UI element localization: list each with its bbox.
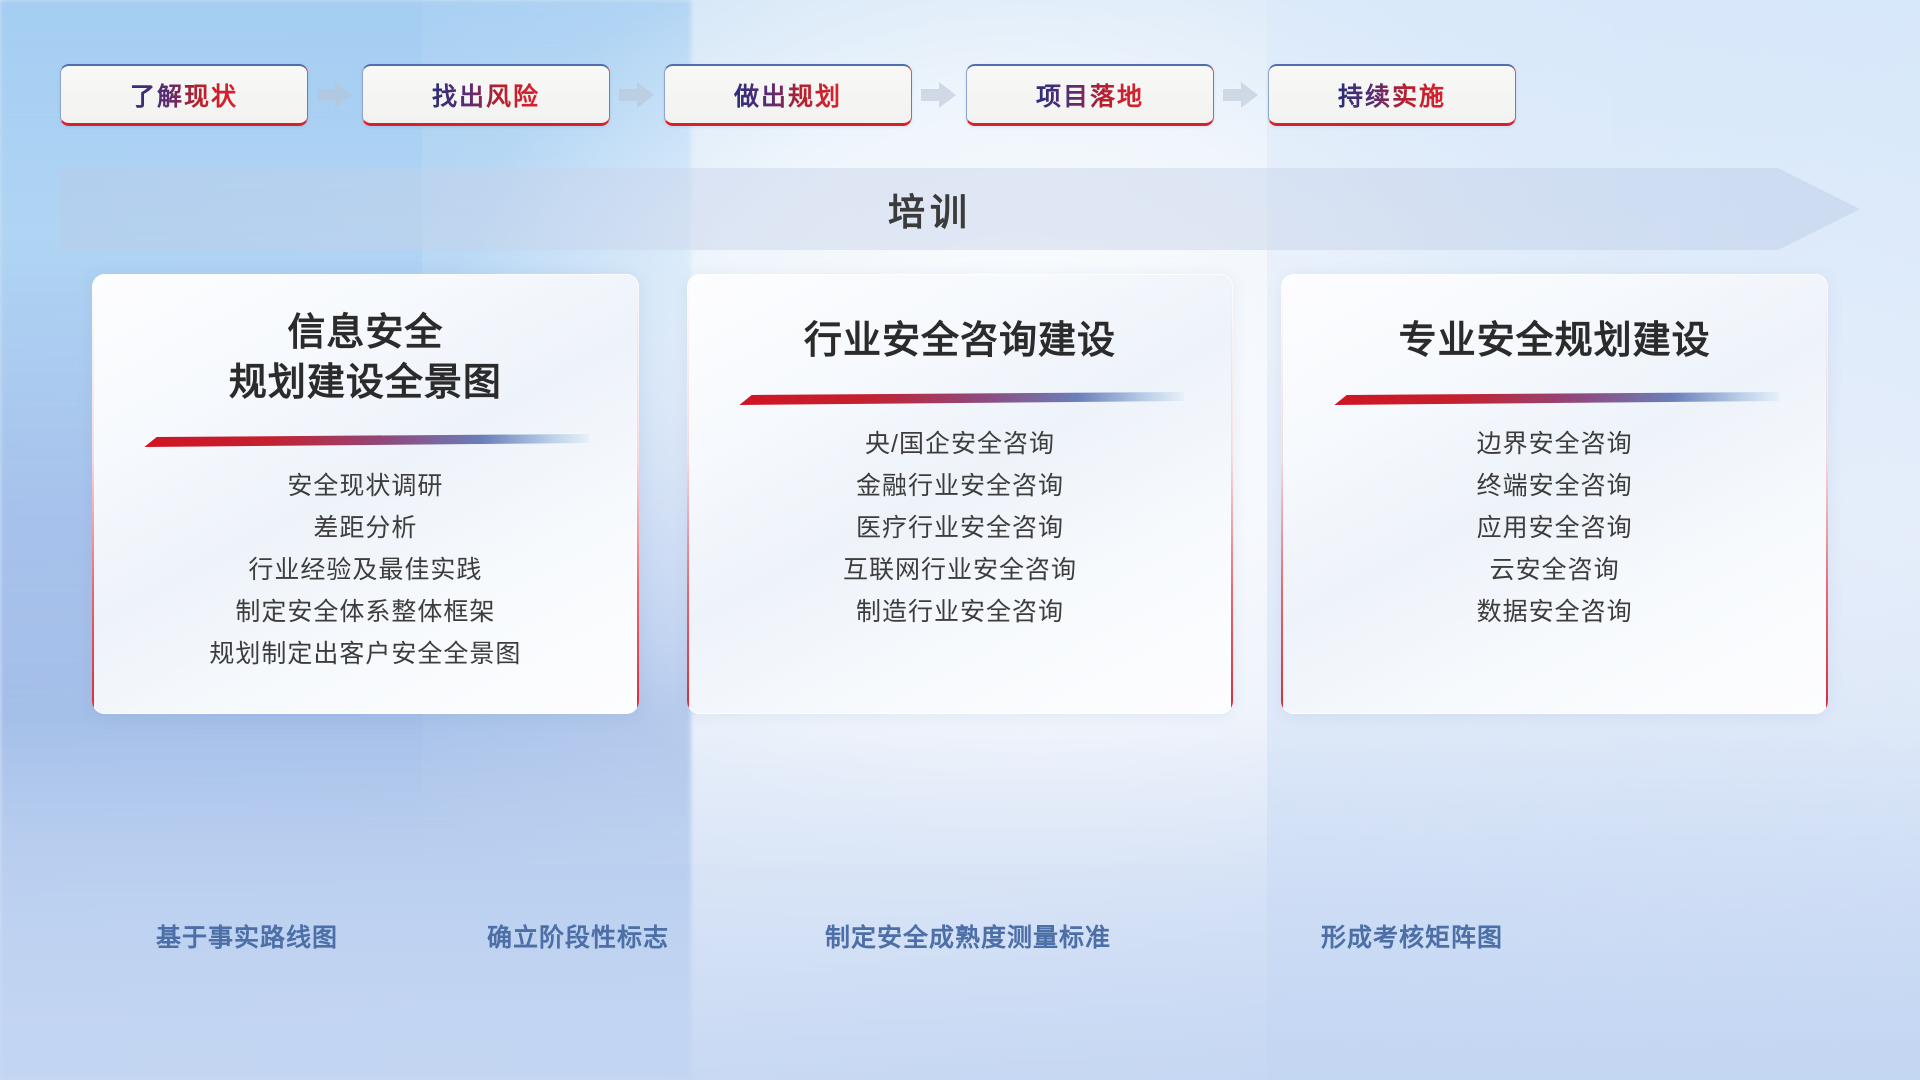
background-bottom-wash [0, 713, 1920, 1080]
process-step-row: 了解现状找出风险做出规划项目落地持续实施 [60, 64, 1860, 126]
process-step-label: 做出规划 [734, 77, 842, 113]
bottom-caption-4: 形成考核矩阵图 [1321, 918, 1503, 954]
card-list-item[interactable]: 数据安全咨询 [1477, 600, 1633, 625]
chevron-right-arrow-icon [921, 81, 957, 109]
card-divider-bar [1331, 392, 1779, 406]
card-title: 专业安全规划建设 [1399, 316, 1711, 366]
process-arrow-4 [1214, 64, 1268, 126]
process-arrow-2 [610, 64, 664, 126]
consulting-card-3[interactable]: 专业安全规划建设边界安全咨询终端安全咨询应用安全咨询云安全咨询数据安全咨询 [1281, 274, 1828, 714]
process-step-3[interactable]: 做出规划 [664, 64, 912, 126]
divider-shape [736, 392, 1184, 406]
card-title: 行业安全咨询建设 [804, 316, 1116, 366]
divider-shape [1331, 392, 1779, 406]
card-list-item[interactable]: 差距分析 [209, 516, 521, 541]
chevron-right-arrow-icon [619, 81, 655, 109]
training-band-label: 培训 [60, 168, 1860, 250]
process-step-label: 找出风险 [432, 77, 540, 113]
training-arrow-band: 培训 [60, 168, 1860, 250]
process-step-label: 了解现状 [130, 77, 238, 113]
process-step-label: 持续实施 [1338, 77, 1446, 113]
bottom-caption-3: 制定安全成熟度测量标准 [825, 918, 1111, 954]
chevron-right-arrow-icon [1223, 81, 1259, 109]
divider-shape [141, 434, 589, 448]
process-step-4[interactable]: 项目落地 [966, 64, 1214, 126]
card-list-item[interactable]: 金融行业安全咨询 [843, 474, 1077, 499]
consulting-card-2[interactable]: 行业安全咨询建设央/国企安全咨询金融行业安全咨询医疗行业安全咨询互联网行业安全咨… [687, 274, 1234, 714]
card-item-list: 安全现状调研差距分析行业经验及最佳实践制定安全体系整体框架规划制定出客户安全全景… [209, 474, 521, 667]
card-list-item[interactable]: 规划制定出客户安全全景图 [209, 642, 521, 667]
card-list-item[interactable]: 医疗行业安全咨询 [843, 516, 1077, 541]
card-item-list: 央/国企安全咨询金融行业安全咨询医疗行业安全咨询互联网行业安全咨询制造行业安全咨… [843, 432, 1077, 625]
card-item-list: 边界安全咨询终端安全咨询应用安全咨询云安全咨询数据安全咨询 [1477, 432, 1633, 625]
bottom-caption-row: 基于事实路线图确立阶段性标志制定安全成熟度测量标准形成考核矩阵图 [0, 918, 1920, 962]
bottom-caption-1: 基于事实路线图 [156, 918, 338, 954]
card-list-item[interactable]: 云安全咨询 [1477, 558, 1633, 583]
process-arrow-1 [308, 64, 362, 126]
card-title-line: 规划建设全景图 [229, 358, 502, 408]
process-step-2[interactable]: 找出风险 [362, 64, 610, 126]
card-title-line: 信息安全 [229, 308, 502, 358]
chevron-right-arrow-icon [317, 81, 353, 109]
process-arrow-3 [912, 64, 966, 126]
card-divider-bar [736, 392, 1184, 406]
process-step-label: 项目落地 [1036, 77, 1144, 113]
card-list-item[interactable]: 应用安全咨询 [1477, 516, 1633, 541]
card-list-item[interactable]: 制造行业安全咨询 [843, 600, 1077, 625]
card-title-line: 专业安全规划建设 [1399, 316, 1711, 366]
process-step-1[interactable]: 了解现状 [60, 64, 308, 126]
process-step-5[interactable]: 持续实施 [1268, 64, 1516, 126]
card-list-item[interactable]: 央/国企安全咨询 [843, 432, 1077, 457]
card-title: 信息安全规划建设全景图 [229, 308, 502, 408]
consulting-cards-container: 信息安全规划建设全景图安全现状调研差距分析行业经验及最佳实践制定安全体系整体框架… [92, 274, 1828, 714]
consulting-card-1[interactable]: 信息安全规划建设全景图安全现状调研差距分析行业经验及最佳实践制定安全体系整体框架… [92, 274, 639, 714]
card-list-item[interactable]: 终端安全咨询 [1477, 474, 1633, 499]
card-list-item[interactable]: 边界安全咨询 [1477, 432, 1633, 457]
card-divider-bar [141, 434, 589, 448]
card-list-item[interactable]: 互联网行业安全咨询 [843, 558, 1077, 583]
card-title-line: 行业安全咨询建设 [804, 316, 1116, 366]
bottom-caption-2: 确立阶段性标志 [487, 918, 669, 954]
card-list-item[interactable]: 行业经验及最佳实践 [209, 558, 521, 583]
card-list-item[interactable]: 安全现状调研 [209, 474, 521, 499]
card-list-item[interactable]: 制定安全体系整体框架 [209, 600, 521, 625]
